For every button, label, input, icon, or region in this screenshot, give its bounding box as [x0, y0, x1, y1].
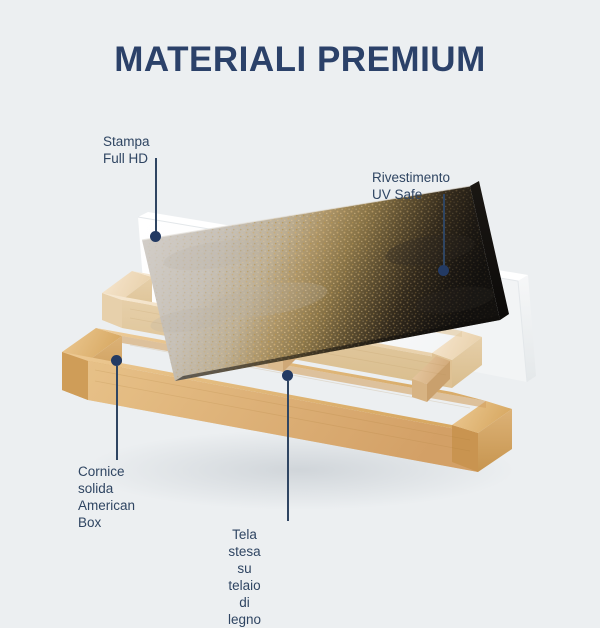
- callout-label: Tela stesa su telaio di legno: [228, 526, 261, 628]
- callout-leader-line: [443, 194, 445, 270]
- callout-label: Stampa Full HD: [103, 133, 150, 167]
- callout-leader-line: [287, 381, 289, 521]
- callout-dot: [282, 370, 293, 381]
- callout-dot: [438, 265, 449, 276]
- page-title: MATERIALI PREMIUM: [0, 42, 600, 77]
- callout-leader-line: [116, 366, 118, 460]
- callout-dot: [111, 355, 122, 366]
- callout-dot: [150, 231, 161, 242]
- callout-label: Rivestimento UV Safe: [372, 169, 450, 203]
- callout-label: Cornice solida American Box: [78, 463, 135, 531]
- product-feature-graphic: MATERIALI PREMIUM Stampa Full HD Rivesti…: [0, 0, 600, 600]
- callout-leader-line: [155, 158, 157, 236]
